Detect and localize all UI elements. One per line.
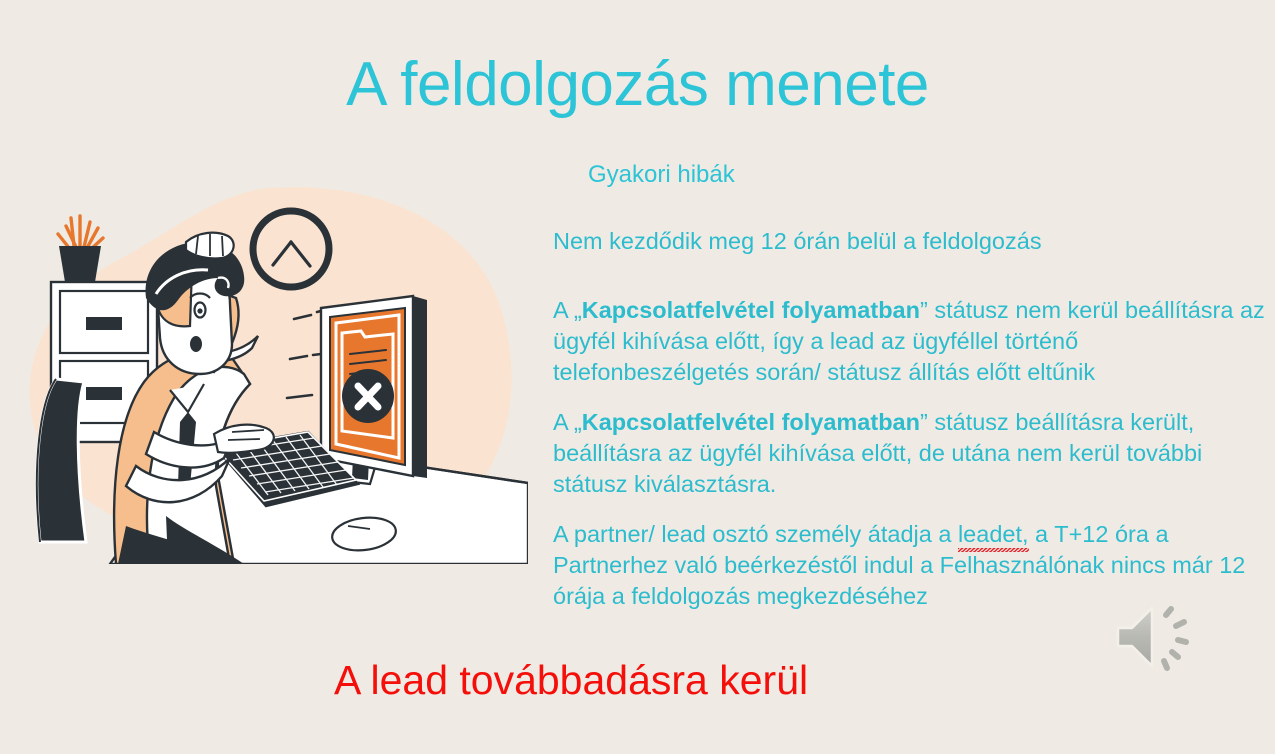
paragraph-2-prefix: A „: [553, 297, 582, 323]
hand-on-head: [186, 233, 234, 259]
slide-canvas: A feldolgozás menete Gyakori hibák: [0, 0, 1275, 754]
paragraph-2-status-name: Kapcsolatfelvétel folyamatban: [582, 297, 920, 323]
misspelled-word-leadet: leadet,: [958, 519, 1029, 550]
page-title: A feldolgozás menete: [0, 52, 1275, 117]
wall-clock: [253, 211, 329, 287]
office-chair: [37, 379, 86, 542]
speaker-icon[interactable]: [1110, 600, 1206, 674]
paragraph-4-before: A partner/ lead osztó személy átadja a: [553, 521, 958, 547]
paragraph-no-start-within-12h: Nem kezdődik meg 12 órán belül a feldolg…: [553, 226, 1269, 257]
illustration-frustrated-man-at-computer: [18, 186, 528, 564]
paragraph-status-set-no-followup: A „Kapcsolatfelvétel folyamatban” státus…: [553, 407, 1269, 500]
sound-waves: [1164, 609, 1186, 668]
paragraph-3-prefix: A „: [553, 409, 582, 435]
paragraph-3-status-name: Kapcsolatfelvétel folyamatban: [582, 409, 920, 435]
paragraph-lead-handover-timing: A partner/ lead osztó személy átadja a l…: [553, 519, 1269, 612]
paragraph-status-not-set: A „Kapcsolatfelvétel folyamatban” státus…: [553, 295, 1269, 388]
potted-plant: [58, 216, 103, 282]
slide-subtitle: Gyakori hibák: [588, 159, 735, 190]
paragraph-1-text: Nem kezdődik meg 12 órán belül a feldolg…: [553, 228, 1042, 254]
warning-text: A lead továbbadásra kerül: [334, 657, 808, 704]
body-text-block: Nem kezdődik meg 12 órán belül a feldolg…: [553, 226, 1269, 612]
monitor-with-error: [321, 296, 427, 484]
speaker-cone: [1118, 608, 1152, 666]
